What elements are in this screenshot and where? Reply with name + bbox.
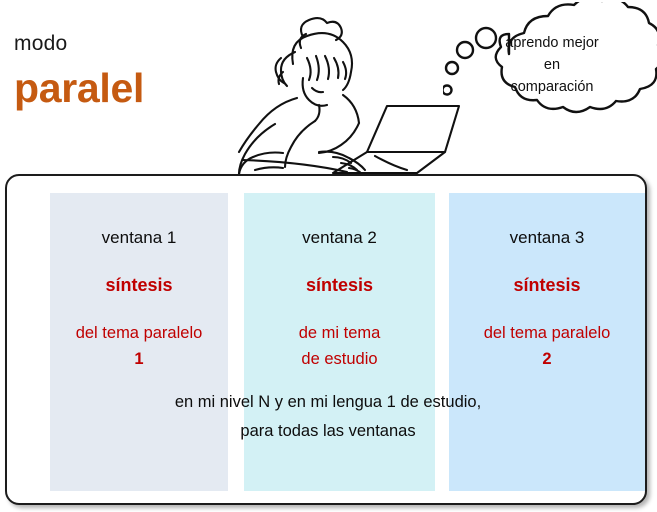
synthesis-label-2: síntesis [244,276,435,294]
thought-bubble-line-2: en [466,54,638,76]
parallel-mode-panel: ventana 1 síntesis del tema paralelo 1 v… [5,174,647,505]
page-title-paralel: paralel [14,68,144,109]
window-label-3: ventana 3 [449,229,645,246]
person-studying-at-laptop-icon [215,2,465,174]
page-title-mode: modo [14,33,67,54]
window-label-2: ventana 2 [244,229,435,246]
window-description-1-line-1: del tema paralelo [50,321,228,347]
window-description-2-line-2: de estudio [244,347,435,373]
window-label-1: ventana 1 [50,229,228,246]
window-description-1-line-2: 1 [50,347,228,373]
window-description-3: del tema paralelo 2 [449,321,645,372]
window-description-1: del tema paralelo 1 [50,321,228,372]
window-column-1[interactable]: ventana 1 síntesis del tema paralelo 1 [50,193,228,491]
window-description-3-line-2: 2 [449,347,645,373]
window-column-2[interactable]: ventana 2 síntesis de mi tema de estudio [244,193,435,491]
window-description-2: de mi tema de estudio [244,321,435,372]
thought-bubble-text: aprendo mejor en comparación [466,32,638,98]
synthesis-label-1: síntesis [50,276,228,294]
window-column-3[interactable]: ventana 3 síntesis del tema paralelo 2 [449,193,645,491]
window-description-2-line-1: de mi tema [244,321,435,347]
synthesis-label-3: síntesis [449,276,645,294]
thought-bubble-line-1: aprendo mejor [466,32,638,54]
thought-bubble-line-3: comparación [466,76,638,98]
header: modo paralel [0,0,657,175]
window-description-3-line-1: del tema paralelo [449,321,645,347]
